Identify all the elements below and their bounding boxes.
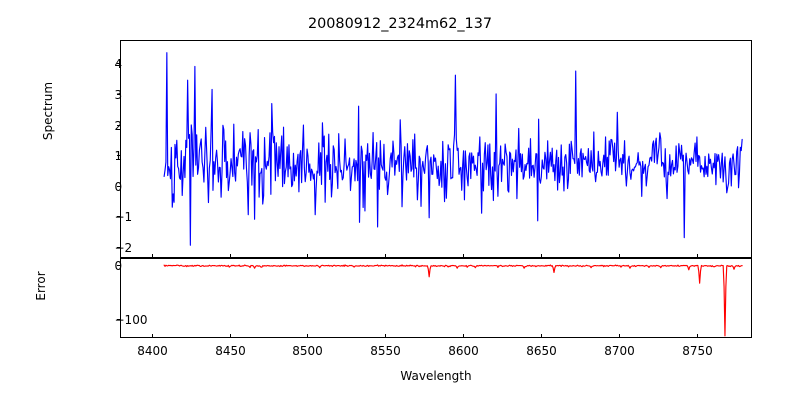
xtick-8450: 8450 [215,344,246,358]
error-trace [164,265,742,336]
x-axis-label: Wavelength [120,369,752,383]
spectrum-trace [164,53,742,246]
error-tick-marks [117,266,698,338]
error-axes-frame [121,259,752,338]
xtick-8600: 8600 [448,344,479,358]
error-y-axis-label: Error [34,231,48,341]
matplotlib-figure: 20080912_2324m62_137 Spectrum Error Wave… [0,0,800,400]
spectrum-trace-group [164,53,742,246]
xtick-8650: 8650 [526,344,557,358]
error-trace-group [164,265,742,336]
xtick-8700: 8700 [604,344,635,358]
xtick-8400: 8400 [137,344,168,358]
page-title: 20080912_2324m62_137 [0,16,800,32]
xtick-8500: 8500 [292,344,323,358]
xtick-8550: 8550 [370,344,401,358]
xtick-8750: 8750 [682,344,713,358]
spectrum-y-axis-label: Spectrum [41,51,55,171]
